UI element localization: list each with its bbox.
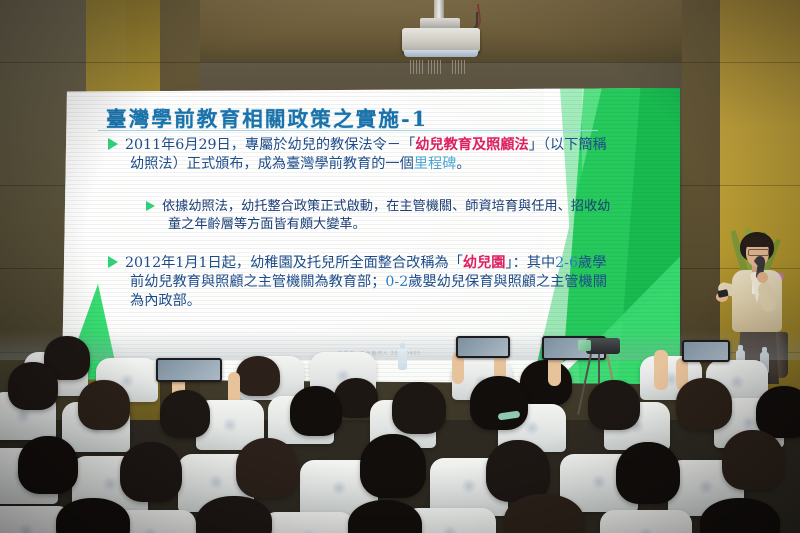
camera-icon (456, 336, 510, 358)
slide-bullet-1: 2011年6月29日，專屬於幼兒的教保法令－「幼兒教育及照顧法」（以下簡稱幼照法… (108, 136, 608, 174)
bullet-1-seg-0: 2011年6月29日，專屬於幼兒的教保法令－「 (125, 137, 415, 153)
slide-title: 臺灣學前教育相關政策之實施-1 (106, 102, 428, 132)
speaker-right-hand (757, 272, 768, 283)
audience-head (8, 362, 58, 410)
smartphone-icon (682, 340, 730, 362)
audience-head (290, 386, 342, 436)
bullet-1-seg-1: 幼兒教育及照顧法 (415, 137, 529, 153)
projector-icon (402, 28, 480, 52)
audience-arm (654, 350, 668, 390)
presentation-photo: 臺灣學前教育相關政策之實施-1 2011年6月29日，專屬於幼兒的教保法令－「幼… (0, 0, 800, 533)
bullet-1-seg-3: 里程碑 (414, 156, 457, 172)
slide-bullet-2: 依據幼照法，幼托整合政策正式啟動，在主管機關、師資培育與任用、招收幼童之年齡層等… (146, 198, 616, 233)
audience-head (700, 498, 780, 533)
audience-area (0, 330, 800, 533)
bullet-3-seg-3: 2-6 (555, 255, 578, 271)
audience-head (78, 380, 130, 430)
audience-seat (600, 510, 692, 533)
audience-head (160, 390, 210, 438)
audience-head (616, 442, 680, 504)
camera-flip-screen (578, 340, 591, 351)
bullet-marker-icon (146, 201, 155, 211)
audience-head (18, 436, 78, 494)
bullet-3-seg-5: 0-2 (385, 274, 408, 290)
audience-seat (262, 512, 354, 533)
audience-head (486, 440, 550, 502)
audience-head (196, 496, 272, 533)
bullet-3-seg-2: 」：其中 (506, 255, 556, 271)
audience-head (470, 376, 528, 430)
audience-head (236, 356, 280, 396)
wall-seam (0, 62, 800, 63)
audience-head (120, 442, 182, 502)
video-camera-icon (586, 338, 620, 354)
bullet-1-seg-4: 。 (456, 156, 470, 172)
bullet-2-seg-0: 依據幼照法，幼托整合政策正式啟動，在主管機關、師資培育與任用、招收幼童之年齡層等… (162, 199, 610, 232)
bullet-3-seg-1: 幼兒園 (463, 255, 506, 271)
audience-head (392, 382, 446, 434)
bullet-marker-icon (108, 138, 118, 150)
water-bottle (398, 348, 407, 370)
slide-bullet-3: 2012年1月1日起，幼稚園及托兒所全面整合改稱為「幼兒園」：其中2-6歲學前幼… (108, 254, 613, 311)
smartphone-icon (156, 358, 222, 382)
audience-head (588, 380, 640, 430)
bullet-marker-icon (108, 256, 118, 268)
audience-head (722, 430, 784, 490)
projector-lens (404, 50, 478, 57)
audience-head (676, 378, 732, 430)
audience-head (236, 438, 298, 498)
audience-head (360, 434, 426, 498)
slide-title-underline (98, 130, 598, 131)
bullet-3-seg-0: 2012年1月1日起，幼稚園及托兒所全面整合改稱為「 (125, 255, 463, 271)
eyeglasses-icon (748, 249, 769, 256)
